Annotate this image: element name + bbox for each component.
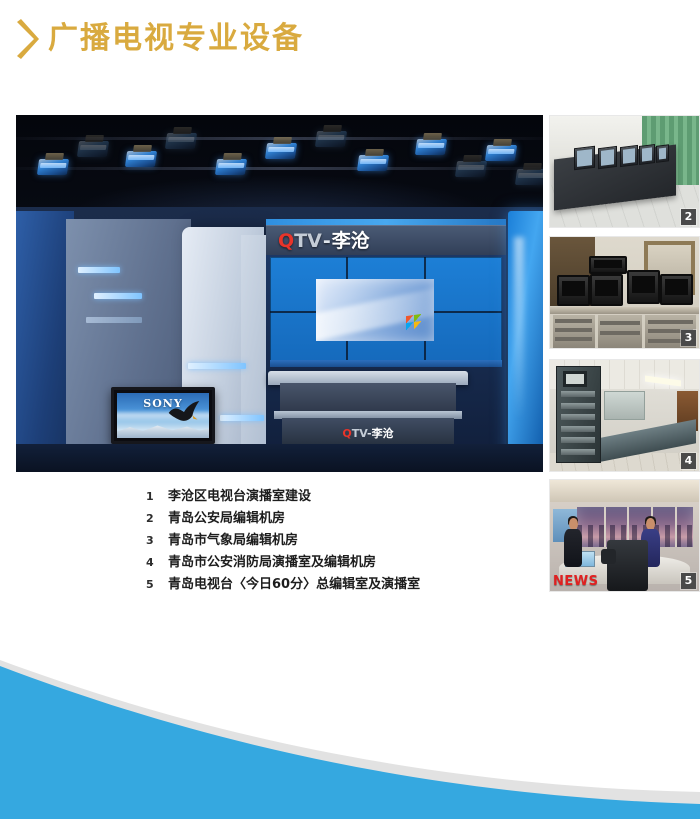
desktop-icons [272,261,286,279]
set-column-blue [508,211,543,472]
studio-ceiling [16,115,543,213]
caption-number: 4 [146,552,168,574]
caption-text: 青岛公安局编辑机房 [168,508,285,530]
caption-text: 青岛市公安消防局演播室及编辑机房 [168,552,376,574]
thumbnail-4[interactable]: 4 [549,359,700,472]
thumbnail-2[interactable]: 2 [549,115,700,228]
chevron-right-icon [14,18,40,60]
thumbnail-badge: 3 [681,330,696,346]
thumbnail-badge: 5 [681,573,696,589]
studio-logo-dash: - [322,230,332,252]
hero-studio-photo: QTV-李沧 [16,115,543,472]
studio-logo-tv: TV [294,230,322,252]
page-header: 广播电视专业设备 [0,0,700,90]
thumbnail-3[interactable]: 3 [549,236,700,349]
desktop-wallpaper [316,279,434,341]
caption-list: 1 李沧区电视台演播室建设 2 青岛公安局编辑机房 3 青岛市气象局编辑机房 4… [146,486,566,596]
thumbnail-badge: 2 [681,209,696,225]
list-item: 2 青岛公安局编辑机房 [146,508,566,530]
page-title: 广播电视专业设备 [48,18,304,60]
list-item: 1 李沧区电视台演播室建设 [146,486,566,508]
footer-wave-decoration [0,614,700,819]
caption-text: 李沧区电视台演播室建设 [168,486,311,508]
list-item: 4 青岛市公安消防局演播室及编辑机房 [146,552,566,574]
eagle-graphic [167,399,201,425]
light-bar [188,363,246,369]
light-bar [94,293,142,299]
light-bar [86,317,142,323]
thumbnail-badge: 4 [681,453,696,469]
light-bar [78,267,120,273]
desk-logo-tv: TV [352,427,367,440]
studio-floor [16,444,543,472]
caption-number: 1 [146,486,168,508]
studio-logo-cn: 李沧 [332,230,370,252]
studio-logo-q: Q [278,230,294,252]
list-item: 3 青岛市气象局编辑机房 [146,530,566,552]
video-wall [270,257,502,367]
caption-text: 青岛市气象局编辑机房 [168,530,298,552]
caption-number: 2 [146,508,168,530]
windows-flag-icon [406,314,422,330]
desk-logo: QTV-李沧 [282,425,454,441]
caption-number: 3 [146,530,168,552]
light-bar [220,415,264,421]
desk-logo-q: Q [342,427,351,440]
page-root: 广播电视专业设备 [0,0,700,819]
studio-logo-band: QTV-李沧 [266,225,506,255]
desktop-taskbar [270,360,502,367]
anchor-desk-face: QTV-李沧 [282,418,454,446]
thumbnail-5[interactable]: NEWS 5 [549,479,700,592]
caption-text: 青岛电视台〈今日60分〉总编辑室及演播室 [168,574,420,596]
anchor-desk-body [280,383,456,413]
desk-logo-cn: 李沧 [372,427,394,440]
list-item: 5 青岛电视台〈今日60分〉总编辑室及演播室 [146,574,566,596]
caption-number: 5 [146,574,168,596]
studio-logo: QTV-李沧 [278,230,518,252]
sony-monitor: SONY [111,387,215,444]
